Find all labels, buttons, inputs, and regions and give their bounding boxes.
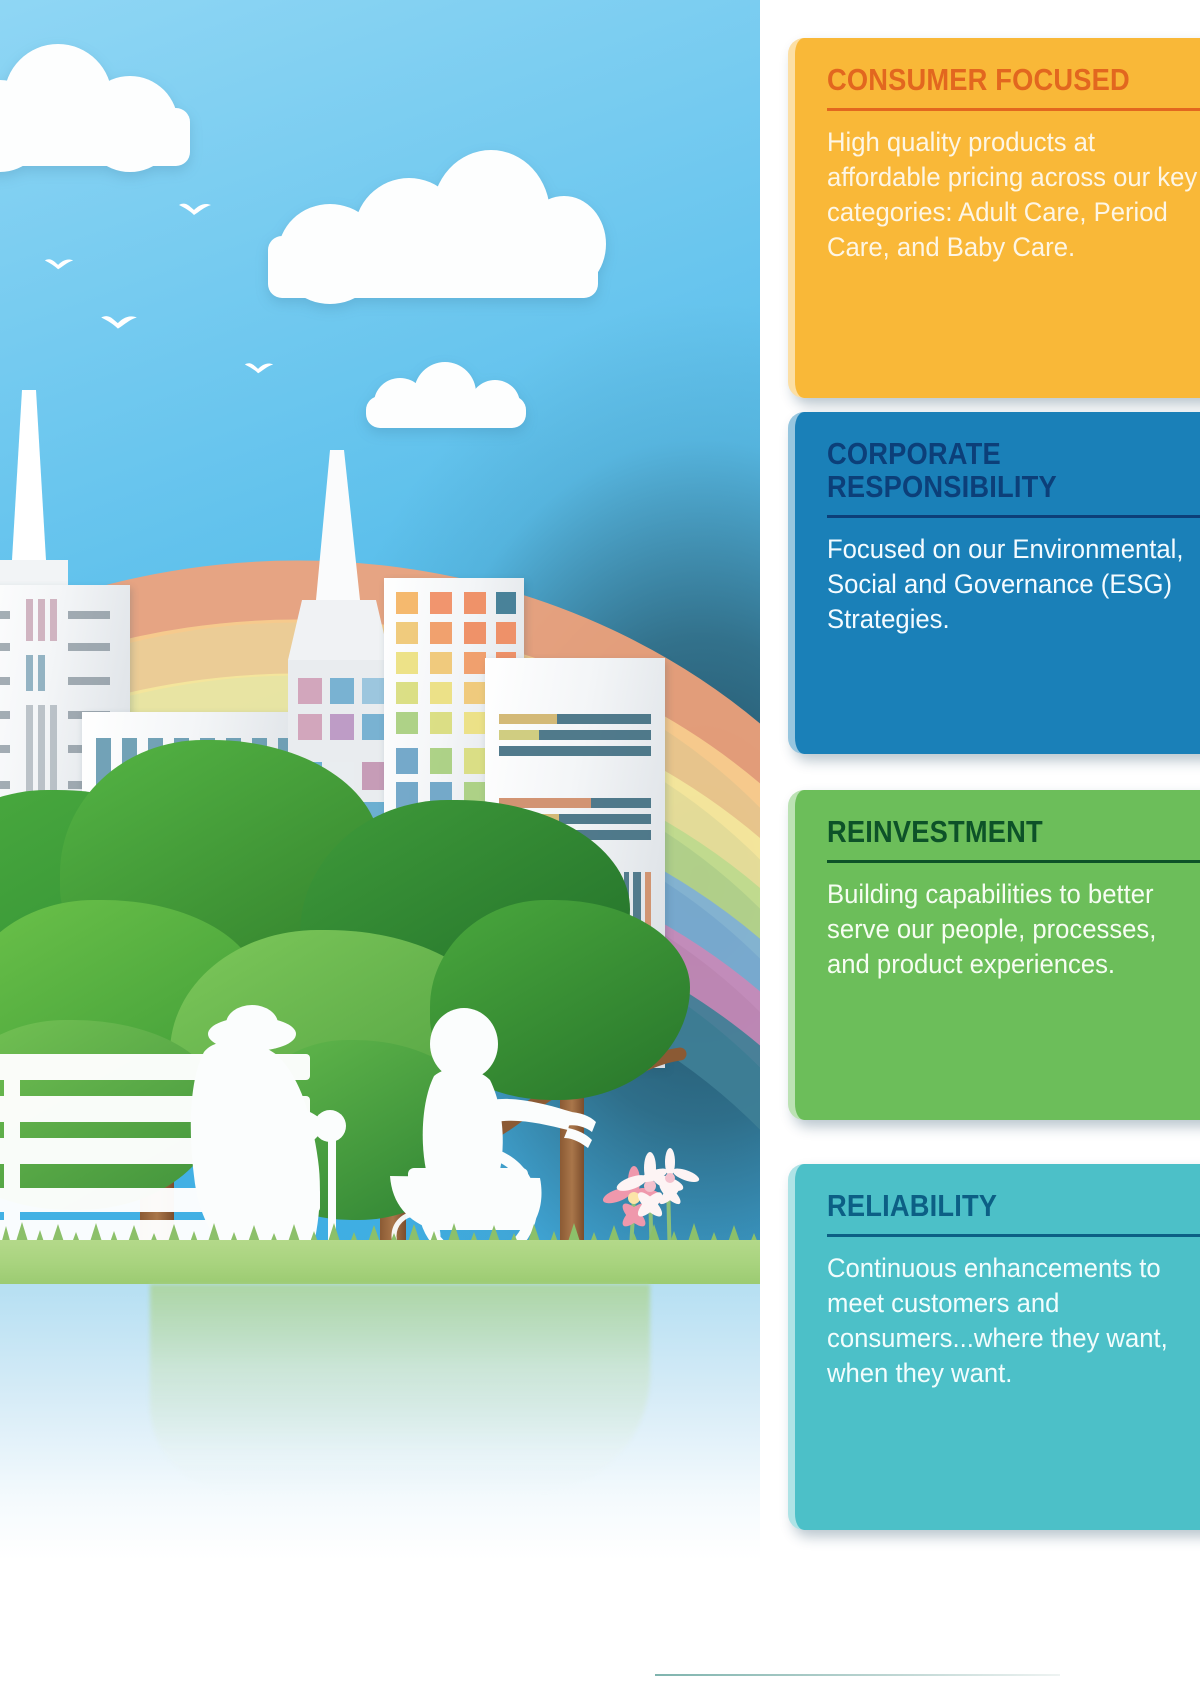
card-corporate-responsibility[interactable]: CORPORATE RESPONSIBILITY Focused on our … — [788, 412, 1200, 754]
card-title: REINVESTMENT — [827, 816, 1171, 849]
card-body: Building capabilities to better serve ou… — [827, 877, 1198, 982]
card-body: High quality products at affordable pric… — [827, 125, 1198, 265]
card-title: RELIABILITY — [827, 1190, 1171, 1223]
card-title-rule — [827, 515, 1200, 518]
card-title-rule — [827, 860, 1200, 863]
value-pillar-cards: CONSUMER FOCUSED High quality products a… — [0, 0, 1200, 1694]
bottom-divider — [655, 1674, 1060, 1676]
card-title: CONSUMER FOCUSED — [827, 64, 1171, 97]
infographic-page: CONSUMER FOCUSED High quality products a… — [0, 0, 1200, 1694]
card-title-rule — [827, 108, 1200, 111]
card-body: Continuous enhancements to meet customer… — [827, 1251, 1198, 1391]
card-reliability[interactable]: RELIABILITY Continuous enhancements to m… — [788, 1164, 1200, 1530]
card-title: CORPORATE RESPONSIBILITY — [827, 438, 1171, 504]
card-reinvestment[interactable]: REINVESTMENT Building capabilities to be… — [788, 790, 1200, 1120]
card-consumer-focused[interactable]: CONSUMER FOCUSED High quality products a… — [788, 38, 1200, 398]
card-title-rule — [827, 1234, 1200, 1237]
card-body: Focused on our Environmental, Social and… — [827, 532, 1198, 637]
